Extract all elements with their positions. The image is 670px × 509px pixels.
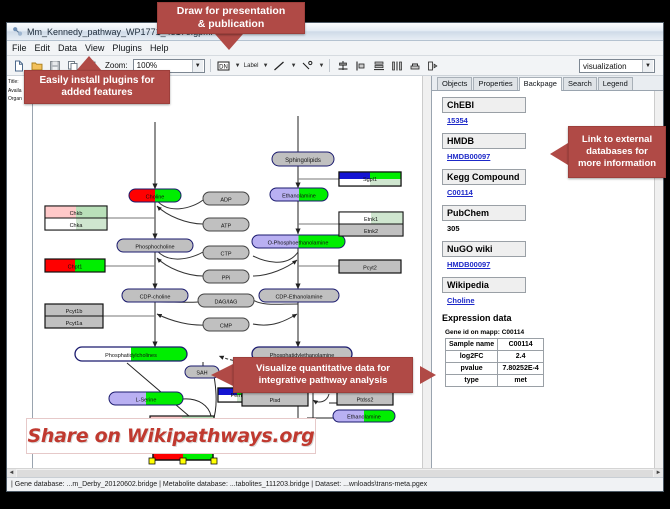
title-bar: Mm_Kennedy_pathway_WP1771_45176.gpml <box>7 23 663 41</box>
gene-chpt1-label: Chpt1 <box>68 265 83 271</box>
node-ctp-label: CTP <box>221 252 232 258</box>
datanode-dropdown-icon[interactable]: ▼ <box>235 63 241 69</box>
distribute-icon[interactable] <box>389 58 404 73</box>
node-cmp[interactable]: CMP <box>203 318 249 331</box>
db-header-pubchem: PubChem <box>442 205 526 221</box>
cell-key-sample-name: Sample name <box>446 339 498 351</box>
main-split: Title: Availa Organ <box>7 76 663 468</box>
menu-help[interactable]: Help <box>150 43 169 53</box>
zoom-value: 100% <box>137 61 157 70</box>
menu-plugins[interactable]: Plugins <box>112 43 142 53</box>
tab-objects[interactable]: Objects <box>437 77 472 90</box>
callout-plugins: Easily install plugins for added feature… <box>24 70 170 104</box>
db-header-wikipedia: Wikipedia <box>442 277 526 293</box>
table-row: Sample name C00114 <box>446 339 544 351</box>
node-atp-label: ATP <box>221 224 232 230</box>
tab-properties[interactable]: Properties <box>473 77 517 90</box>
receptor-dropdown-icon[interactable]: ▼ <box>319 63 325 69</box>
table-row: type met <box>446 375 544 387</box>
db-value-pubchem: 305 <box>447 224 663 233</box>
side-panel-tabs: Objects Properties Backpage Search Legen… <box>432 76 663 91</box>
menu-data[interactable]: Data <box>58 43 77 53</box>
node-dag-label: DAG/IAG <box>215 300 238 306</box>
share-banner-text: Share on Wikipathways.org <box>28 425 315 447</box>
expression-data-title: Expression data <box>442 313 663 323</box>
db-header-kegg-compound: Kegg Compound <box>442 169 526 185</box>
visualization-chevron-down-icon[interactable]: ▼ <box>642 60 653 72</box>
gene-box-pcyt2[interactable]: Pcyt2 <box>339 260 401 273</box>
expression-data-table: Sample name C00114 log2FC 2.4 pvalue 7.8… <box>445 338 544 387</box>
align-middle-icon[interactable] <box>353 58 368 73</box>
cell-value-sample-name: C00114 <box>498 339 544 351</box>
db-link-nugo-wiki[interactable]: HMDB00097 <box>447 260 663 269</box>
visualization-value: visualization <box>583 62 627 71</box>
node-phosphocholine[interactable]: Phosphocholine <box>117 239 193 252</box>
callout-expression-arrow-icon <box>420 366 436 384</box>
node-ctp[interactable]: CTP <box>203 246 249 259</box>
tab-legend[interactable]: Legend <box>598 77 633 90</box>
gene-etnk2-label: Etnk2 <box>364 229 378 235</box>
line-dropdown-icon[interactable]: ▼ <box>291 63 297 69</box>
cell-value-type: met <box>498 375 544 387</box>
gene-box-pcyt1[interactable]: Pcyt1b Pcyt1a <box>45 304 103 328</box>
node-phosphatidylcholines[interactable]: Phosphatidylcholines <box>75 347 187 361</box>
callout-plugins-line2: added features <box>61 87 132 100</box>
tab-search[interactable]: Search <box>563 77 597 90</box>
node-phosphocholine-label: Phosphocholine <box>135 245 174 251</box>
gene-chka-label: Chka <box>70 223 84 229</box>
callout-draw-line2: & publication <box>198 18 265 31</box>
callout-draw-arrow-icon <box>215 34 243 50</box>
label-dropdown-icon[interactable]: ▼ <box>263 63 269 69</box>
db-header-nugo-wiki: NuGO wiki <box>442 241 526 257</box>
callout-visualize: Visualize quantitative data for integrat… <box>233 357 413 393</box>
svg-text:DN: DN <box>219 64 228 70</box>
node-sah-label: SAH <box>196 371 207 377</box>
cell-key-pvalue: pvalue <box>446 363 498 375</box>
gene-box-chkb-chka[interactable]: Chkb Chka <box>45 206 107 230</box>
callout-visualize-line1: Visualize quantitative data for <box>256 363 390 375</box>
chevron-down-icon[interactable]: ▼ <box>192 60 203 72</box>
node-sphingolipids[interactable]: Sphingolipids <box>272 152 334 166</box>
gene-pcyt1b-label: Pcyt1b <box>66 309 83 315</box>
node-phosphatidylcholines-label: Phosphatidylcholines <box>105 353 157 359</box>
node-ethanolamine-top[interactable]: Ethanolamine <box>270 188 328 201</box>
callout-links-arrow-icon <box>550 143 568 165</box>
node-ethanolamine-bottom[interactable]: Ethanolamine <box>333 410 395 422</box>
callout-plugins-arrow-icon <box>76 56 102 71</box>
share-banner: Share on Wikipathways.org <box>26 418 316 454</box>
cell-value-pvalue: 7.80252E-4 <box>498 363 544 375</box>
callout-draw: Draw for presentation & publication <box>157 2 305 34</box>
node-ppi[interactable]: PPi <box>203 270 249 283</box>
menu-file[interactable]: File <box>12 43 27 53</box>
gene-chkb-label: Chkb <box>70 211 83 217</box>
db-link-wikipedia[interactable]: Choline <box>447 296 663 305</box>
gene-box-ptdss2[interactable]: Ptdss2 <box>337 392 393 405</box>
order-front-icon[interactable] <box>425 58 440 73</box>
node-cdp-ethanolamine[interactable]: CDP-Ethanolamine <box>259 289 339 302</box>
menu-view[interactable]: View <box>85 43 104 53</box>
table-row: pvalue 7.80252E-4 <box>446 363 544 375</box>
stack-icon[interactable] <box>371 58 386 73</box>
node-cdp-choline-label: CDP-choline <box>140 295 171 301</box>
pathway-diagram[interactable]: Sphingolipids Choline Ethanolamine <box>7 76 432 468</box>
pathway-canvas[interactable]: Title: Availa Organ <box>7 76 432 468</box>
toolbar-separator-2 <box>329 59 330 72</box>
node-cmp-label: CMP <box>220 324 233 330</box>
node-l-serine-left[interactable]: L-Serine <box>109 392 183 405</box>
menu-bar: File Edit Data View Plugins Help <box>7 41 663 56</box>
gene-id-on-mapp: Gene id on mapp: C00114 <box>445 329 663 336</box>
callout-draw-line1: Draw for presentation <box>177 5 286 18</box>
gene-box-etnk[interactable]: Etnk1 Etnk2 <box>339 212 403 236</box>
db-header-chebi: ChEBI <box>442 97 526 113</box>
callout-plugins-line1: Easily install plugins for <box>39 75 154 88</box>
node-cdp-choline[interactable]: CDP-choline <box>122 289 188 302</box>
cell-key-log2fc: log2FC <box>446 351 498 363</box>
node-atp[interactable]: ATP <box>203 218 249 231</box>
db-link-chebi[interactable]: 15354 <box>447 116 663 125</box>
status-text: | Gene database: ...m_Derby_20120602.bri… <box>11 481 427 488</box>
node-ethanolamine-bottom-label: Ethanolamine <box>347 415 381 421</box>
align-center-icon[interactable] <box>335 58 350 73</box>
menu-edit[interactable]: Edit <box>35 43 51 53</box>
node-choline-top-label: Choline <box>146 195 165 201</box>
node-choline-top[interactable]: Choline <box>129 189 181 202</box>
db-header-hmdb: HMDB <box>442 133 526 149</box>
node-o-phosphoethanolamine[interactable]: O-Phosphoethanolamine <box>252 235 345 248</box>
canvas-vertical-scrollbar[interactable] <box>422 76 431 468</box>
node-sphingolipids-label: Sphingolipids <box>285 158 321 164</box>
callout-visualize-arrow-icon <box>211 364 233 386</box>
table-row: log2FC 2.4 <box>446 351 544 363</box>
toolbar-separator <box>210 59 211 72</box>
gene-etnk1-label: Etnk1 <box>364 217 378 223</box>
screenshot-root: Mm_Kennedy_pathway_WP1771_45176.gpml Fil… <box>0 0 670 509</box>
node-o-phosphoethanolamine-label: O-Phosphoethanolamine <box>268 241 329 247</box>
node-ethanolamine-top-label: Ethanolamine <box>282 194 316 200</box>
gene-pcyt2-label: Pcyt2 <box>363 266 377 272</box>
visualization-combobox[interactable]: visualization ▼ <box>579 59 655 73</box>
tab-backpage[interactable]: Backpage <box>519 77 562 91</box>
receptor-tool-icon[interactable] <box>300 58 315 73</box>
callout-links-line1: Link to external <box>582 134 652 146</box>
gene-box-chpt1[interactable]: Chpt1 <box>45 259 105 272</box>
cell-value-log2fc: 2.4 <box>498 351 544 363</box>
callout-visualize-line2: integrative pathway analysis <box>259 375 388 387</box>
status-bar: | Gene database: ...m_Derby_20120602.bri… <box>7 477 663 491</box>
callout-links-line3: more information <box>578 158 656 170</box>
callout-links-line2: databases for <box>586 146 648 158</box>
datanode-icon[interactable]: DN <box>216 58 231 73</box>
node-cdp-ethanolamine-label: CDP-Ethanolamine <box>275 295 322 301</box>
gene-pcyt1a-label: Pcyt1a <box>66 321 84 327</box>
group-icon[interactable] <box>407 58 422 73</box>
gene-sgpl1-label: Sgpl1 <box>363 177 377 183</box>
callout-links: Link to external databases for more info… <box>568 126 666 178</box>
cell-key-type: type <box>446 375 498 387</box>
node-adp-label: ADP <box>220 198 232 204</box>
gene-ptdss2-label: Ptdss2 <box>357 398 374 404</box>
gene-box-pisd[interactable]: Pisd <box>240 392 308 407</box>
scroll-thumb[interactable] <box>17 470 653 477</box>
line-tool-icon[interactable] <box>272 58 287 73</box>
db-link-kegg-compound[interactable]: C00114 <box>447 188 663 197</box>
gene-pisd-label: Pisd <box>270 398 281 404</box>
node-adp[interactable]: ADP <box>203 192 249 205</box>
label-tool-button[interactable]: Label <box>244 58 259 73</box>
pathvisio-app-icon <box>11 26 23 38</box>
canvas-horizontal-scrollbar[interactable]: ◄ ► <box>7 468 663 477</box>
node-dag[interactable]: DAG/IAG <box>198 294 254 307</box>
node-ppi-label: PPi <box>222 276 231 282</box>
node-l-serine-left-label: L-Serine <box>136 398 157 404</box>
gene-box-sgpl1[interactable]: Sgpl1 <box>339 172 401 186</box>
zoom-label: Zoom: <box>105 61 128 70</box>
